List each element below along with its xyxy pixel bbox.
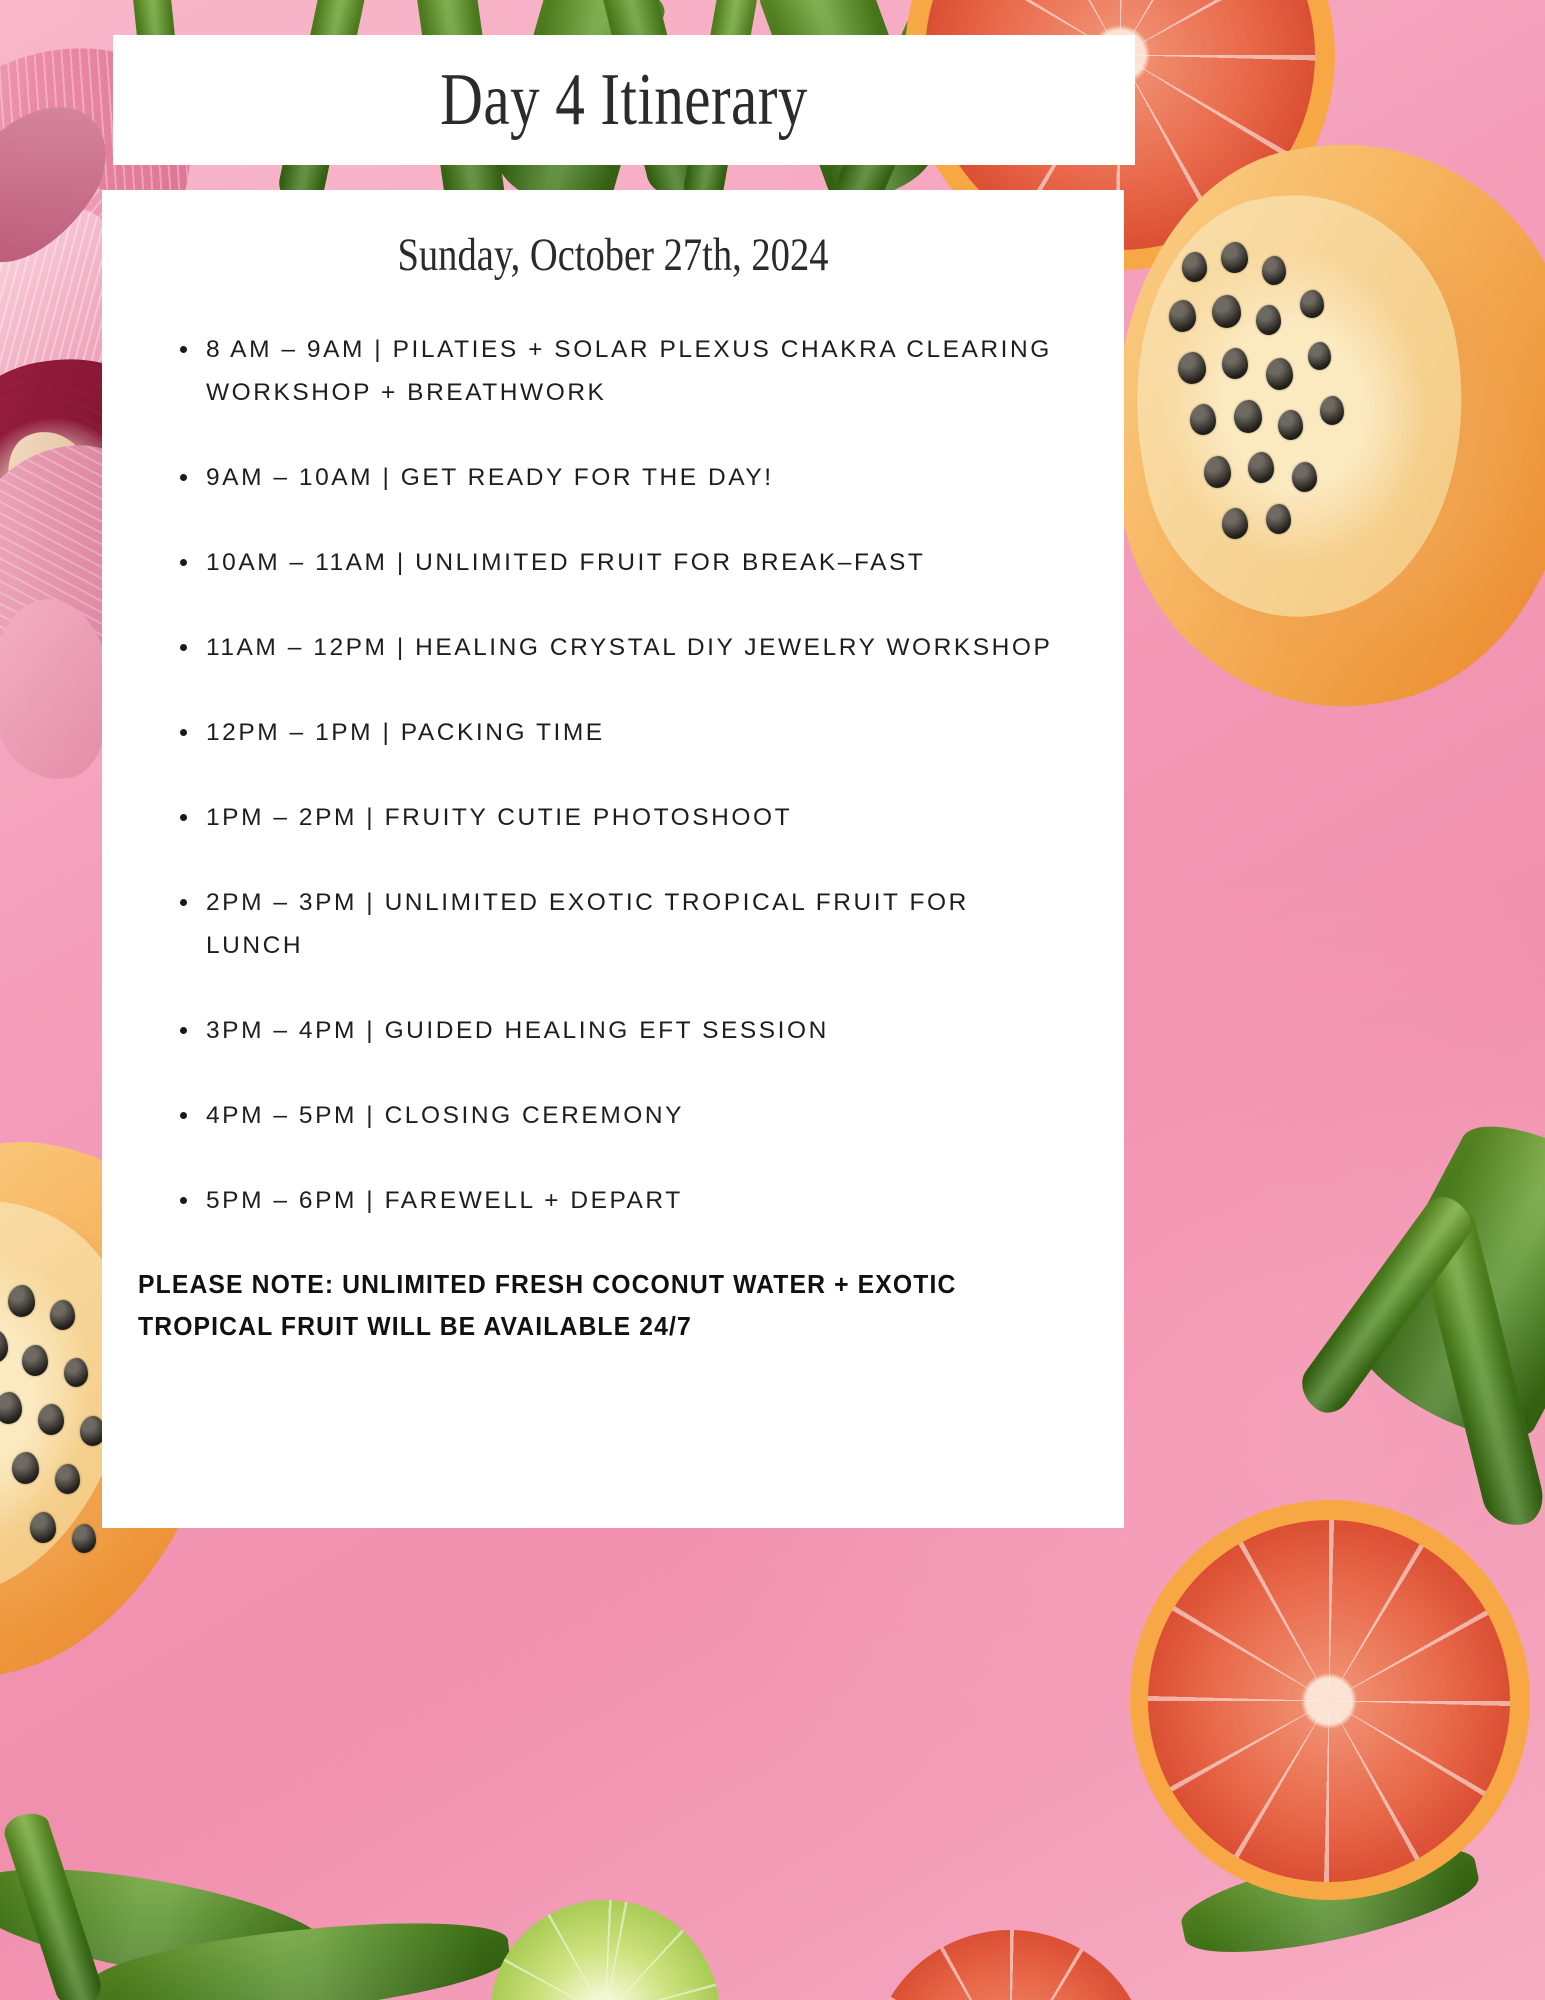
papaya-seed-icon <box>1222 348 1248 379</box>
papaya-seed-icon <box>1212 295 1241 328</box>
list-item: 10AM – 11AM | UNLIMITED FRUIT FOR BREAK–… <box>180 541 1060 584</box>
papaya-seed-icon <box>1221 242 1248 273</box>
papaya-seed-icon <box>1262 256 1286 285</box>
list-item: 2PM – 3PM | UNLIMITED EXOTIC TROPICAL FR… <box>180 881 1060 967</box>
papaya-seed-icon <box>22 1345 48 1376</box>
papaya-seed-icon <box>64 1358 88 1387</box>
papaya-seed-icon <box>1204 456 1231 488</box>
list-item: 8 AM – 9AM | PILATIES + SOLAR PLEXUS CHA… <box>180 328 1060 414</box>
papaya-seed-icon <box>1190 404 1216 435</box>
papaya-seed-icon <box>1256 305 1281 335</box>
title-card: Day 4 Itinerary <box>113 35 1135 165</box>
please-note-text: PLEASE NOTE: UNLIMITED FRESH COCONUT WAT… <box>138 1264 1060 1348</box>
list-item: 5PM – 6PM | FAREWELL + DEPART <box>180 1179 1060 1222</box>
list-item: 1PM – 2PM | FRUITY CUTIE PHOTOSHOOT <box>180 796 1060 839</box>
papaya-seed-icon <box>1292 462 1317 492</box>
papaya-seed-icon <box>1308 342 1331 370</box>
list-item: 12PM – 1PM | PACKING TIME <box>180 711 1060 754</box>
papaya-seed-icon <box>55 1464 80 1494</box>
papaya-seed-icon <box>50 1300 75 1330</box>
papaya-seed-icon <box>1222 508 1248 539</box>
papaya-seed-icon <box>72 1524 96 1553</box>
papaya-seed-icon <box>1266 504 1291 534</box>
papaya-seed-icon <box>1234 400 1262 433</box>
itinerary-date: Sunday, October 27th, 2024 <box>194 228 1032 282</box>
papaya-seed-icon <box>8 1285 35 1317</box>
papaya-seed-icon <box>1266 358 1293 390</box>
list-item: 4PM – 5PM | CLOSING CEREMONY <box>180 1094 1060 1137</box>
papaya-seed-icon <box>38 1404 64 1435</box>
page-title: Day 4 Itinerary <box>215 35 1033 165</box>
papaya-seed-icon <box>1320 396 1344 425</box>
itinerary-list: 8 AM – 9AM | PILATIES + SOLAR PLEXUS CHA… <box>180 328 1060 1222</box>
papaya-seed-icon <box>1300 290 1324 318</box>
list-item: 3PM – 4PM | GUIDED HEALING EFT SESSION <box>180 1009 1060 1052</box>
papaya-seed-icon <box>1169 300 1196 332</box>
list-item: 11AM – 12PM | HEALING CRYSTAL DIY JEWELR… <box>180 626 1060 669</box>
grapefruit-slice-icon <box>1148 1520 1510 1882</box>
list-item: 9AM – 10AM | GET READY FOR THE DAY! <box>180 456 1060 499</box>
itinerary-card: Sunday, October 27th, 2024 8 AM – 9AM | … <box>102 190 1124 1528</box>
papaya-seed-icon <box>1278 410 1303 440</box>
papaya-seed-icon <box>1248 452 1274 483</box>
papaya-seed-icon <box>12 1452 39 1484</box>
papaya-seed-icon <box>1178 352 1206 384</box>
papaya-seed-icon <box>30 1512 56 1543</box>
papaya-seed-icon <box>1182 252 1207 282</box>
